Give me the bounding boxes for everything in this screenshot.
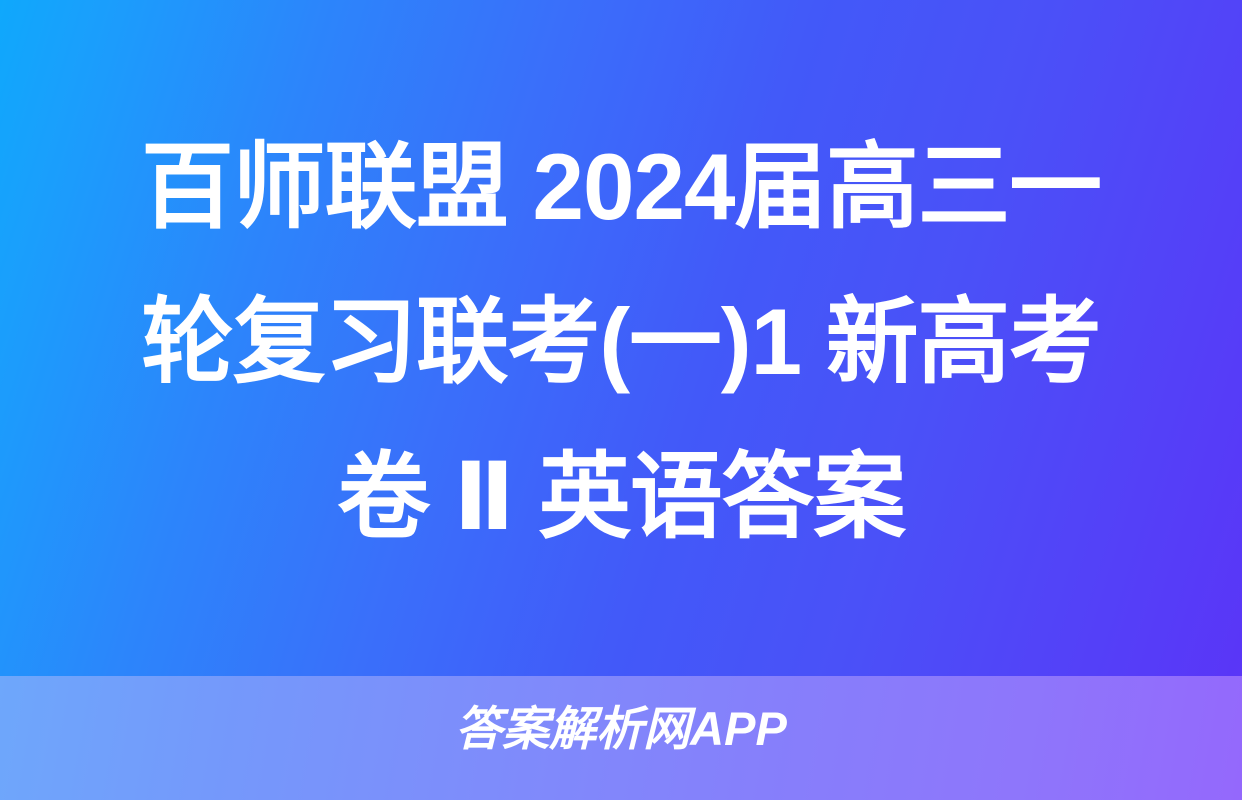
title-line-1: 百师联盟 2024届高三一	[141, 109, 1101, 264]
poster-title-block: 百师联盟 2024届高三一 轮复习联考(一)1 新高考 卷 Ⅱ 英语答案	[0, 0, 1242, 676]
title-line-3: 卷 Ⅱ 英语答案	[337, 419, 905, 574]
title-line-2: 轮复习联考(一)1 新高考	[141, 264, 1100, 419]
app-watermark: 答案解析网APP	[0, 700, 1242, 758]
answer-poster-card: 百师联盟 2024届高三一 轮复习联考(一)1 新高考 卷 Ⅱ 英语答案 答案解…	[0, 0, 1242, 800]
